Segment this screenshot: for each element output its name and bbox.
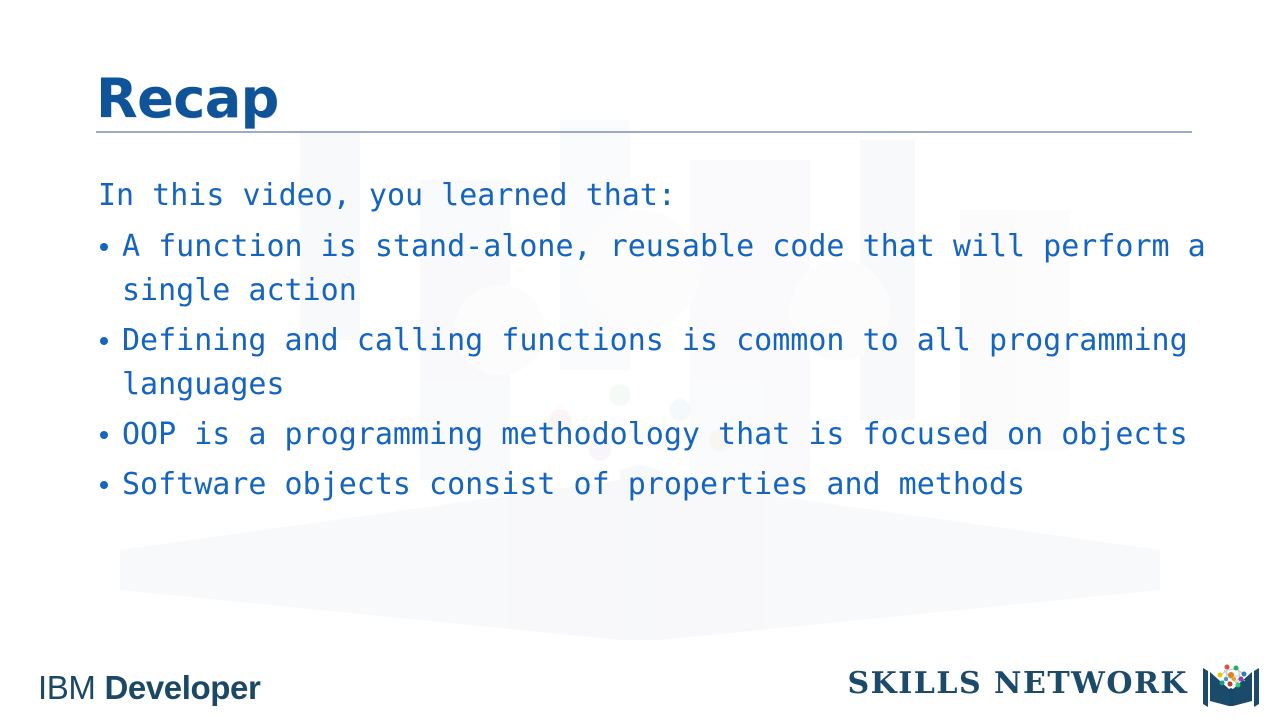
bullet-dot-icon [100,481,108,489]
list-item: Defining and calling functions is common… [96,319,1226,407]
list-item-label: OOP is a programming methodology that is… [122,413,1226,457]
intro-text: In this video, you learned that: [98,176,1226,216]
ibm-wordmark: IBM [38,669,95,706]
slide-canvas: Recap In this video, you learned that: A… [0,0,1280,720]
list-item-label: A function is stand-alone, reusable code… [122,225,1226,313]
developer-wordmark: Developer [104,669,260,706]
skills-network-wordmark: SKILLS NETWORK [847,667,1188,701]
page-title: Recap [96,70,1192,128]
list-item: Software objects consist of properties a… [96,463,1226,507]
ibm-developer-logo: IBMDeveloper [38,669,260,707]
title-divider [96,131,1192,133]
list-item-label: Defining and calling functions is common… [122,319,1226,407]
bullet-dot-icon [100,337,108,345]
title-block: Recap [96,70,1192,128]
open-book-network-icon [1200,658,1262,710]
body-content: In this video, you learned that: A funct… [96,176,1226,513]
list-item-label: Software objects consist of properties a… [122,463,1226,507]
bullet-dot-icon [100,243,108,251]
list-item: A function is stand-alone, reusable code… [96,225,1226,313]
bullet-dot-icon [100,431,108,439]
recap-bullet-list: A function is stand-alone, reusable code… [96,225,1226,507]
skills-network-logo: SKILLS NETWORK [847,658,1262,710]
list-item: OOP is a programming methodology that is… [96,413,1226,457]
